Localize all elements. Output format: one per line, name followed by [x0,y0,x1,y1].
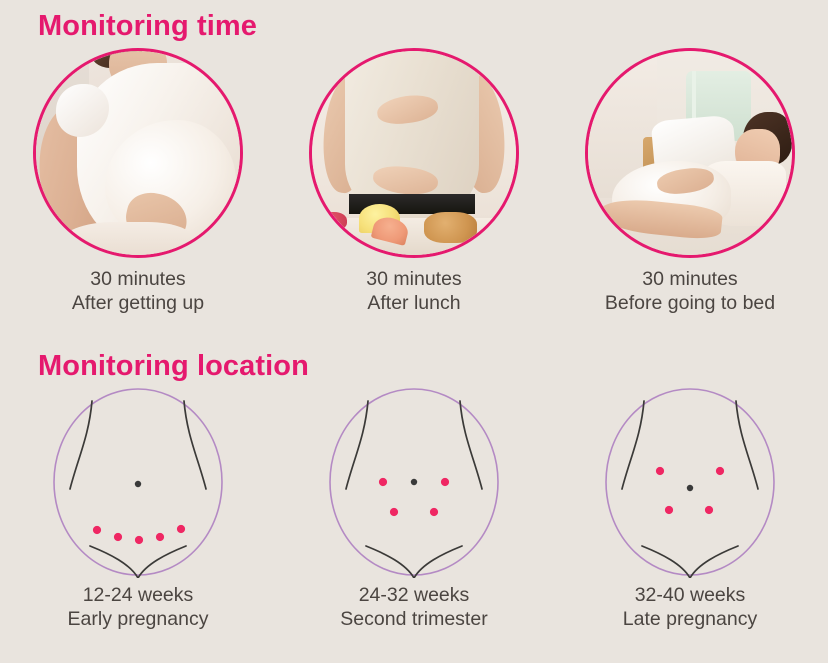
monitoring-time-row: 30 minutes After getting up 30 minutes A… [0,48,828,316]
measurement-dot-3 [665,506,673,514]
navel-marker [135,481,141,487]
pregnant-woman-sitting-photo [33,48,243,258]
caption-second-trimester: 24-32 weeks Second trimester [340,584,487,632]
monitoring-location-item-second-trimester: 24-32 weeks Second trimester [276,388,552,632]
navel-marker [687,485,693,491]
monitoring-location-item-late-pregnancy: 32-40 weeks Late pregnancy [552,388,828,632]
caption-before-bed: 30 minutes Before going to bed [605,268,775,316]
measurement-dot-2 [441,478,449,486]
caption-late-pregnancy: 32-40 weeks Late pregnancy [623,584,757,632]
photo-image-3 [588,51,792,255]
groin-right-line [138,546,186,578]
monitoring-time-item-after-lunch: 30 minutes After lunch [276,48,552,316]
groin-left-line [642,546,690,578]
caption-line-1: 30 minutes [72,268,204,292]
groin-left-line [366,546,414,578]
page-title-monitoring-time: Monitoring time [38,12,257,41]
diagram-dots-group-early [93,525,185,544]
caption-line-1: 30 minutes [366,268,461,292]
navel-marker [411,479,417,485]
measurement-dot-4 [430,508,438,516]
measurement-dot-2 [716,467,724,475]
groin-left-line [90,546,138,578]
caption-line-2: After lunch [366,292,461,316]
measurement-dot-4 [705,506,713,514]
measurement-dot-1 [379,478,387,486]
measurement-dot-4 [156,533,164,541]
abdomen-diagram-svg-early [34,388,242,578]
measurement-dot-2 [114,533,122,541]
abdomen-diagram-early [34,388,242,578]
pregnant-woman-in-bed-photo [585,48,795,258]
monitoring-location-item-early-pregnancy: 12-24 weeks Early pregnancy [0,388,276,632]
monitoring-time-item-after-getting-up: 30 minutes After getting up [0,48,276,316]
monitoring-location-row: 12-24 weeks Early pregnancy 24-32 weeks … [0,388,828,632]
caption-line-2: After getting up [72,292,204,316]
caption-line-2: Late pregnancy [623,608,757,632]
caption-line-2: Early pregnancy [68,608,209,632]
measurement-dot-1 [93,526,101,534]
measurement-dot-3 [390,508,398,516]
groin-right-line [690,546,738,578]
abdomen-diagram-svg-late [586,388,794,578]
caption-line-1: 12-24 weeks [68,584,209,608]
measurement-dot-5 [177,525,185,533]
caption-line-1: 24-32 weeks [340,584,487,608]
measurement-dot-3 [135,536,143,544]
diagram-circle-outline [606,389,774,575]
abdomen-diagram-second [310,388,518,578]
caption-after-lunch: 30 minutes After lunch [366,268,461,316]
abdomen-diagram-late [586,388,794,578]
monitoring-time-item-before-bed: 30 minutes Before going to bed [552,48,828,316]
photo-image-2 [312,51,516,255]
caption-line-2: Before going to bed [605,292,775,316]
caption-line-1: 30 minutes [605,268,775,292]
caption-line-2: Second trimester [340,608,487,632]
photo-image-1 [36,51,240,255]
pregnant-woman-with-food-photo [309,48,519,258]
measurement-dot-1 [656,467,664,475]
caption-line-1: 32-40 weeks [623,584,757,608]
groin-right-line [414,546,462,578]
page-title-monitoring-location: Monitoring location [38,352,309,381]
caption-early-pregnancy: 12-24 weeks Early pregnancy [68,584,209,632]
caption-after-getting-up: 30 minutes After getting up [72,268,204,316]
abdomen-diagram-svg-second [310,388,518,578]
